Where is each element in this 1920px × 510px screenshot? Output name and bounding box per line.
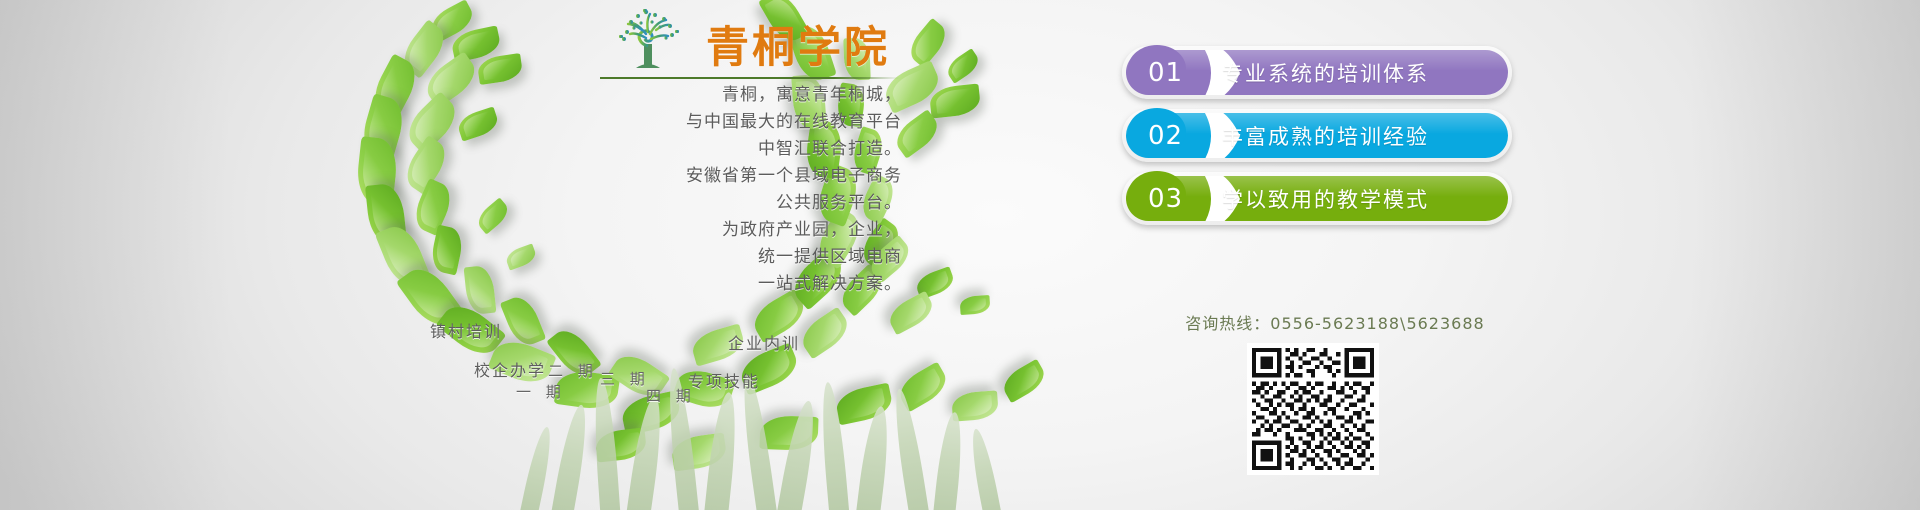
promo-banner: 青桐学院 青桐，寓意青年桐城， 与中国最大的在线教育平台 中智汇联合打造。 安徽… (0, 0, 1920, 510)
feature-label-02: 丰富成熟的培训经验 (1222, 121, 1429, 151)
feature-item-02[interactable]: 02 丰富成熟的培训经验 (1122, 109, 1512, 162)
leaf-icon (455, 106, 500, 141)
leaf-icon (959, 295, 990, 315)
category-tag-xiaoqi: 校企办学 (474, 357, 546, 381)
phase-tag-3: 三 期 (600, 368, 650, 389)
intro-line: 公共服务平台。 (520, 190, 902, 217)
phase-tag-4: 四 期 (646, 385, 696, 406)
intro-line: 与中国最大的在线教育平台 (520, 109, 902, 136)
grass-blade-icon (932, 411, 966, 510)
intro-line: 中智汇联合打造。 (520, 136, 902, 163)
leaf-icon (500, 292, 547, 350)
leaf-icon (998, 359, 1049, 404)
grass-blade-icon (550, 403, 593, 510)
intro-line: 统一提供区域电商 (520, 244, 902, 271)
grass-blade-icon (775, 399, 820, 510)
feature-label-03: 学以致用的教学模式 (1222, 184, 1429, 214)
intro-paragraph: 青桐，寓意青年桐城， 与中国最大的在线教育平台 中智汇联合打造。 安徽省第一个县… (520, 82, 902, 298)
hotline-text: 咨询热线：0556-5623188\5623688 (1170, 310, 1500, 334)
feature-number-01: 01 (1126, 58, 1222, 88)
leaf-icon (929, 83, 982, 118)
phase-tag-2: 二 期 (548, 360, 598, 381)
tree-logo-icon (600, 8, 696, 70)
brand-block: 青桐学院 (600, 6, 900, 79)
brand-divider (600, 77, 900, 79)
phase-tag-1: 一 期 (516, 381, 566, 402)
leaf-icon (474, 197, 513, 234)
leaf-icon (796, 307, 854, 360)
intro-line: 安徽省第一个县域电子商务 (520, 163, 902, 190)
feature-label-01: 专业系统的培训体系 (1222, 58, 1429, 88)
category-tag-zhuanxiang: 专项技能 (688, 368, 760, 392)
grass-blade-icon (518, 425, 556, 510)
category-tag-qiye: 企业内训 (728, 330, 800, 354)
intro-line: 青桐，寓意青年桐城， (520, 82, 902, 109)
intro-line: 为政府产业园，企业， (520, 217, 902, 244)
feature-number-02: 02 (1126, 121, 1222, 151)
category-tag-zhencun: 镇村培训 (430, 318, 502, 342)
qr-code-icon[interactable] (1247, 343, 1379, 475)
feature-item-01[interactable]: 01 专业系统的培训体系 (1122, 46, 1512, 99)
intro-line: 一站式解决方案。 (520, 271, 902, 298)
feature-number-03: 03 (1126, 184, 1222, 214)
feature-list: 01 专业系统的培训体系 02 丰富成熟的培训经验 03 (1122, 46, 1512, 235)
leaf-icon (476, 53, 523, 85)
feature-item-03[interactable]: 03 学以致用的教学模式 (1122, 172, 1512, 225)
leaf-icon (943, 48, 982, 84)
brand-title: 青桐学院 (706, 27, 890, 70)
grass-blade-icon (967, 427, 1003, 510)
